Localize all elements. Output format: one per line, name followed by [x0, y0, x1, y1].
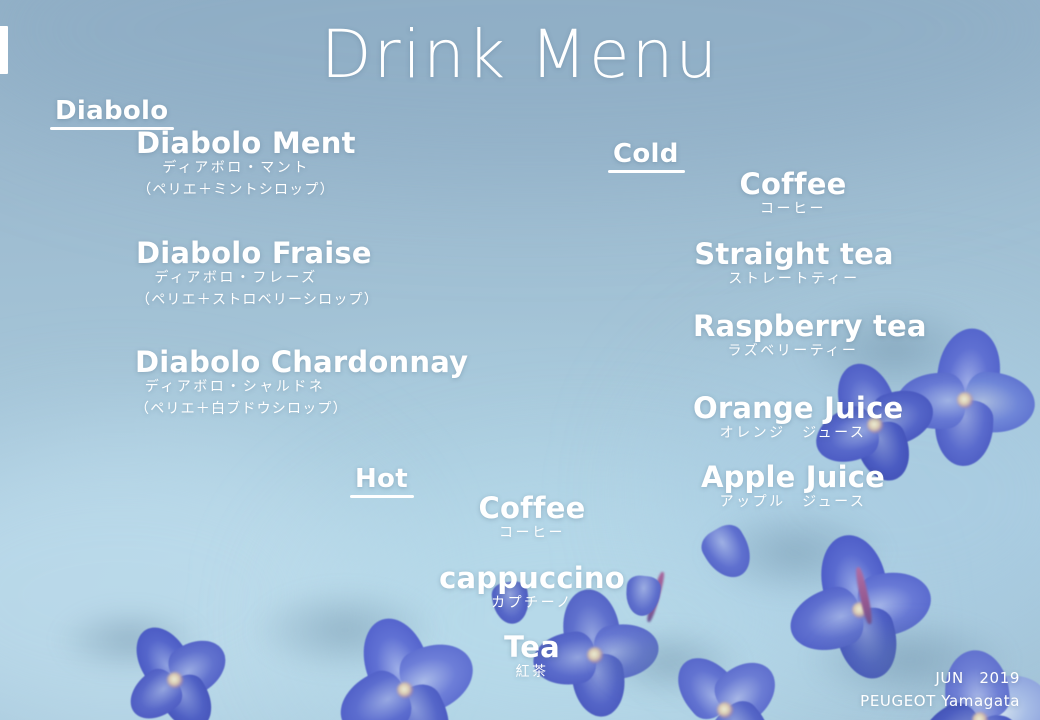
menu-item: cappuccino カプチーノ	[432, 563, 632, 615]
drink-menu-poster: Drink Menu Diabolo Diabolo Ment ディアボロ・マン…	[0, 0, 1040, 720]
menu-item-japanese: ディアボロ・フレーズ	[136, 268, 336, 290]
menu-item-name: Straight tea	[694, 239, 894, 269]
section-heading-cold: Cold	[613, 139, 679, 169]
menu-item: Straight tea ストレートティー	[694, 239, 894, 291]
flower-center	[957, 392, 973, 408]
flower-center	[397, 682, 413, 698]
flower-petal	[962, 370, 1037, 436]
menu-item-name: Coffee	[693, 169, 893, 199]
menu-item-note: （ペリエ＋ストロベリーシロップ）	[136, 290, 336, 312]
section-heading-diabolo: Diabolo	[55, 96, 168, 126]
menu-item-japanese: ディアボロ・マント	[136, 158, 336, 180]
menu-item: Diabolo Ment ディアボロ・マント （ペリエ＋ミントシロップ）	[136, 128, 336, 202]
flower-stem	[645, 571, 666, 623]
flower-center	[167, 672, 183, 688]
flower-petal	[155, 669, 222, 720]
flower-petal	[706, 694, 782, 720]
menu-item: Coffee コーヒー	[432, 493, 632, 545]
menu-item-japanese: 紅茶	[432, 662, 632, 684]
menu-item-name: cappuccino	[432, 563, 632, 593]
menu-item-japanese: ディアボロ・シャルドネ	[135, 377, 335, 399]
menu-item-name: Raspberry tea	[693, 311, 893, 341]
flower-petal	[934, 399, 994, 467]
menu-item-japanese: コーヒー	[432, 523, 632, 545]
menu-item-japanese: コーヒー	[693, 199, 893, 221]
menu-item: Orange Juice オレンジ ジュース	[693, 393, 893, 445]
menu-item: Coffee コーヒー	[693, 169, 893, 221]
menu-item-name: Diabolo Ment	[136, 128, 336, 158]
menu-item: Tea 紅茶	[432, 632, 632, 684]
menu-item: Diabolo Fraise ディアボロ・フレーズ （ペリエ＋ストロベリーシロッ…	[136, 238, 336, 312]
menu-item-name: Tea	[432, 632, 632, 662]
section-heading-hot: Hot	[355, 464, 408, 494]
menu-item-note: （ペリエ＋ミントシロップ）	[136, 180, 336, 202]
flower-shadow	[250, 585, 440, 675]
menu-item-japanese: カプチーノ	[432, 593, 632, 615]
menu-item-name: Diabolo Chardonnay	[135, 347, 335, 377]
menu-item-japanese: ストレートティー	[694, 269, 894, 291]
menu-item-name: Orange Juice	[693, 393, 893, 423]
menu-item: Raspberry tea ラズベリーティー	[693, 311, 893, 363]
menu-item-name: Diabolo Fraise	[136, 238, 336, 268]
menu-item-name: Apple Juice	[693, 462, 893, 492]
background-glow-left	[0, 430, 380, 720]
page-title: Drink Menu	[0, 16, 1040, 93]
menu-item-name: Coffee	[432, 493, 632, 523]
menu-item-japanese: オレンジ ジュース	[693, 423, 893, 445]
menu-item-japanese: ラズベリーティー	[693, 341, 893, 363]
menu-item-note: （ペリエ＋白ブドウシロップ）	[135, 399, 335, 421]
footer-date: JUN 2019	[860, 667, 1020, 690]
menu-item-japanese: アップル ジュース	[693, 492, 893, 514]
flower-center	[972, 712, 988, 720]
menu-item: Apple Juice アップル ジュース	[693, 462, 893, 514]
flower-center	[717, 702, 733, 718]
menu-item: Diabolo Chardonnay ディアボロ・シャルドネ （ペリエ＋白ブドウ…	[135, 347, 335, 421]
footer-author: PEUGEOT Yamagata	[860, 690, 1020, 713]
flower-shadow	[55, 605, 205, 675]
footer-credit: JUN 2019 PEUGEOT Yamagata	[860, 667, 1020, 712]
